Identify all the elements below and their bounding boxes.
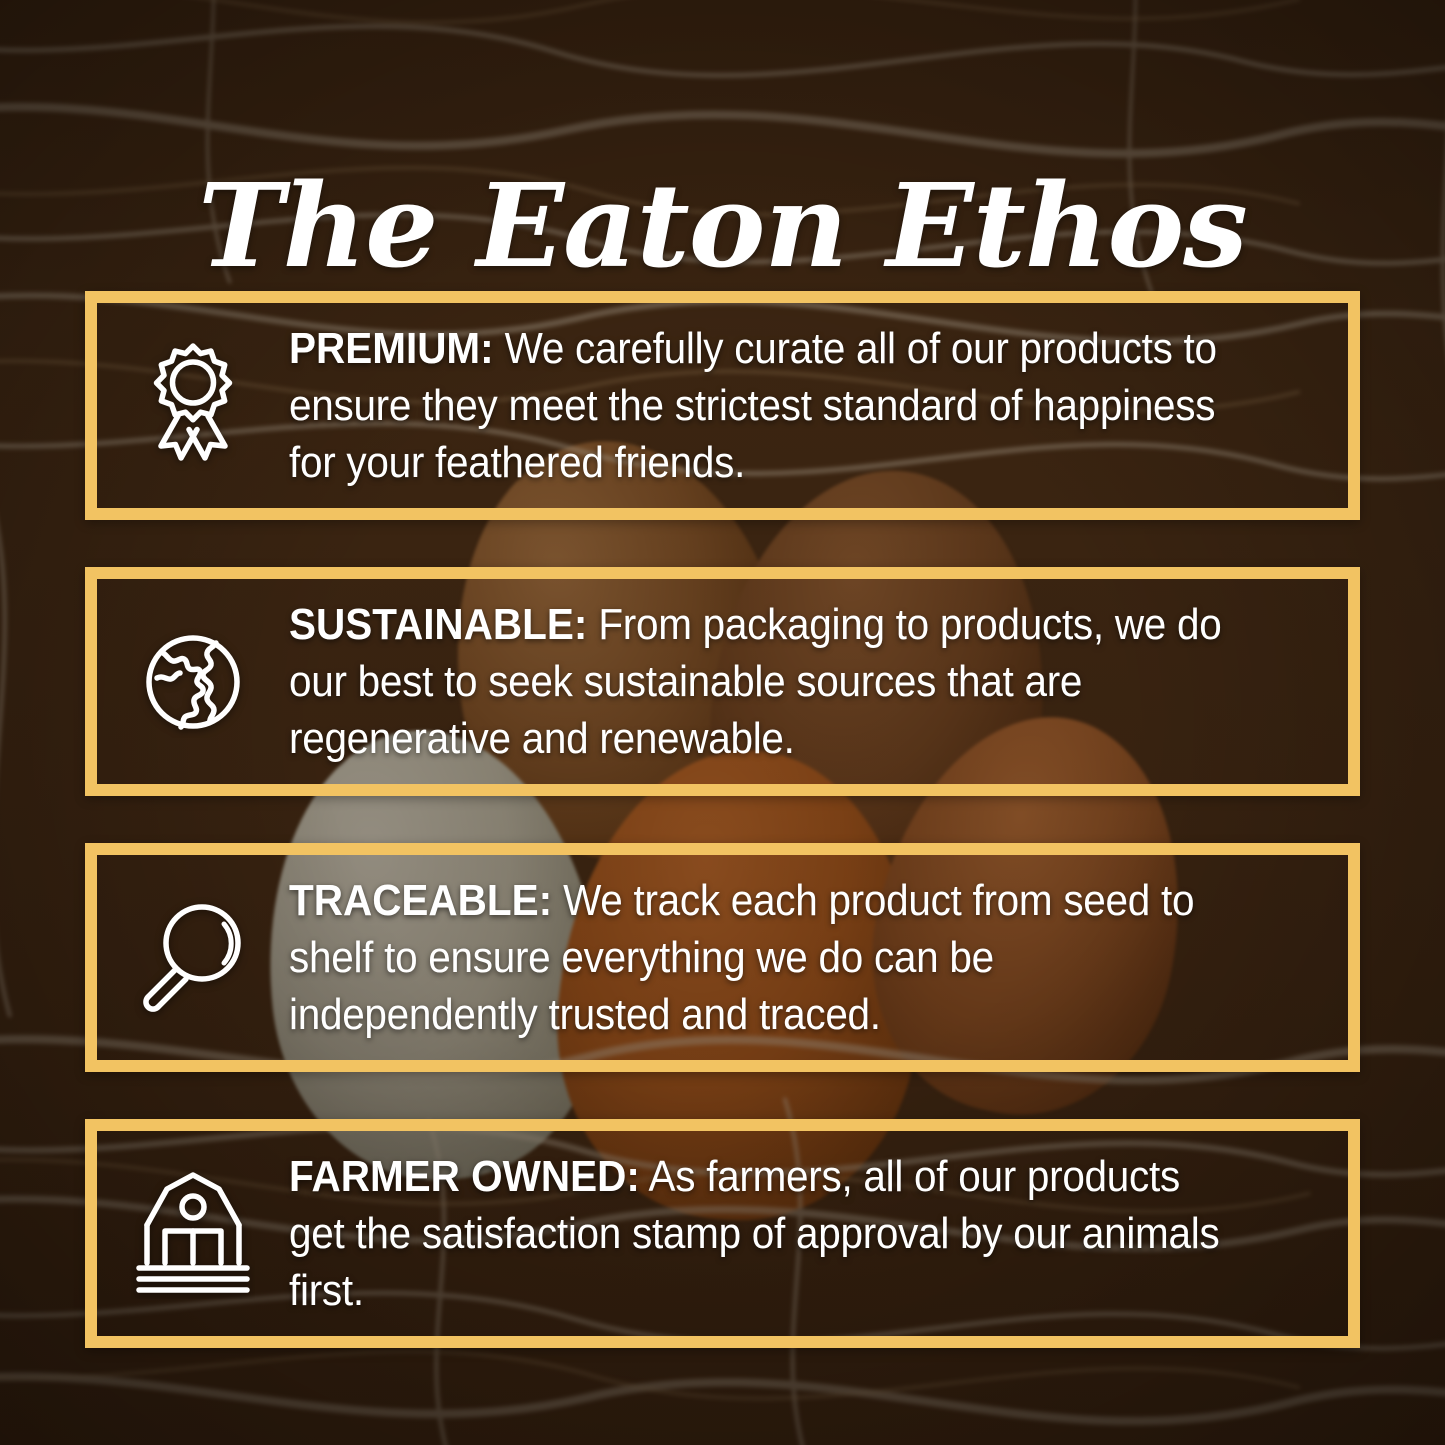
ethos-card-lead: FARMER OWNED:: [289, 1152, 640, 1201]
ethos-card-premium: PREMIUM: We carefully curate all of our …: [85, 291, 1360, 520]
ethos-card-lead: PREMIUM:: [289, 324, 494, 373]
ethos-card-lead: SUSTAINABLE:: [289, 600, 587, 649]
ethos-card-text: PREMIUM: We carefully curate all of our …: [289, 320, 1263, 492]
magnifying-glass-icon: [97, 855, 289, 1060]
page-title: The Eaton Ethos: [0, 169, 1445, 284]
barn-icon: [97, 1131, 289, 1336]
award-ribbon-icon: [97, 303, 289, 508]
ethos-card-text: SUSTAINABLE: From packaging to products,…: [289, 596, 1263, 768]
ethos-card-list: PREMIUM: We carefully curate all of our …: [85, 291, 1360, 1348]
promo-graphic: The Eaton Ethos PREMIUM: We carefu: [0, 0, 1445, 1445]
globe-icon: [97, 579, 289, 784]
ethos-card-sustainable: SUSTAINABLE: From packaging to products,…: [85, 567, 1360, 796]
ethos-card-text: TRACEABLE: We track each product from se…: [289, 872, 1263, 1044]
ethos-card-text: FARMER OWNED: As farmers, all of our pro…: [289, 1148, 1263, 1320]
ethos-card-lead: TRACEABLE:: [289, 876, 552, 925]
ethos-card-farmer-owned: FARMER OWNED: As farmers, all of our pro…: [85, 1119, 1360, 1348]
ethos-card-traceable: TRACEABLE: We track each product from se…: [85, 843, 1360, 1072]
